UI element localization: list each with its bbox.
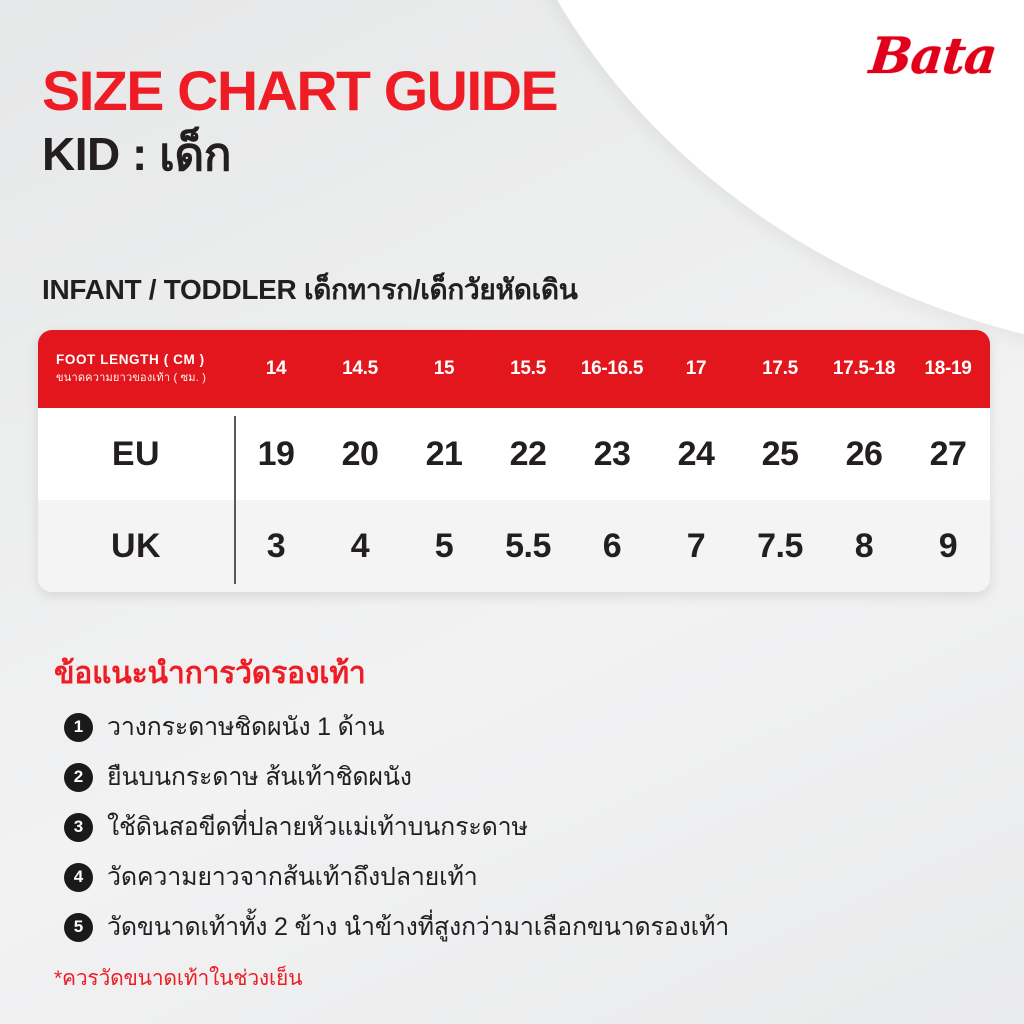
step-number-badge: 5 [64, 913, 93, 942]
size-chart-table: FOOT LENGTH ( CM ) ขนาดความยาวของเท้า ( … [38, 330, 990, 592]
instructions-title: ข้อแนะนำการวัดรองเท้า [54, 650, 366, 697]
table-cell: 7 [654, 527, 738, 566]
foot-length-label-en: FOOT LENGTH ( CM ) [56, 352, 234, 369]
row-label-uk: UK [38, 527, 234, 566]
table-cell: 5.5 [486, 527, 570, 566]
table-cell: 6 [570, 527, 654, 566]
step-text: ยืนบนกระดาษ ส้นเท้าชิดผนัง [107, 757, 412, 797]
column-header: 15.5 [486, 358, 570, 380]
step-text: วัดขนาดเท้าทั้ง 2 ข้าง นำข้างที่สูงกว่าม… [107, 907, 729, 947]
list-item: 3 ใช้ดินสอขีดที่ปลายหัวแม่เท้าบนกระดาษ [64, 802, 729, 852]
step-number-badge: 3 [64, 813, 93, 842]
footnote: *ควรวัดขนาดเท้าในช่วงเย็น [54, 962, 302, 995]
table-header-label: FOOT LENGTH ( CM ) ขนาดความยาวของเท้า ( … [38, 352, 234, 385]
table-cell: 3 [234, 527, 318, 566]
table-cell: 20 [318, 435, 402, 474]
table-cell: 24 [654, 435, 738, 474]
section-title: INFANT / TODDLER เด็กทารก/เด็กวัยหัดเดิน [42, 268, 578, 312]
step-number-badge: 2 [64, 763, 93, 792]
step-text: วัดความยาวจากส้นเท้าถึงปลายเท้า [107, 857, 478, 897]
page-subtitle: KID : เด็ก [42, 129, 547, 180]
table-cell: 8 [822, 527, 906, 566]
table-row-eu: EU 19 20 21 22 23 24 25 26 27 [38, 408, 990, 500]
step-text: ใช้ดินสอขีดที่ปลายหัวแม่เท้าบนกระดาษ [107, 807, 528, 847]
column-header: 14 [234, 358, 318, 380]
column-header: 15 [402, 358, 486, 380]
table-cell: 22 [486, 435, 570, 474]
table-header-row: FOOT LENGTH ( CM ) ขนาดความยาวของเท้า ( … [38, 330, 990, 408]
table-cell: 25 [738, 435, 822, 474]
table-cell: 9 [906, 527, 990, 566]
table-row-uk: UK 3 4 5 5.5 6 7 7.5 8 9 [38, 500, 990, 592]
foot-length-label-th: ขนาดความยาวของเท้า ( ซม. ) [56, 371, 234, 385]
table-cell: 4 [318, 527, 402, 566]
table-cell: 23 [570, 435, 654, 474]
table-cell: 5 [402, 527, 486, 566]
list-item: 5 วัดขนาดเท้าทั้ง 2 ข้าง นำข้างที่สูงกว่… [64, 902, 729, 952]
table-cell: 7.5 [738, 527, 822, 566]
list-item: 4 วัดความยาวจากส้นเท้าถึงปลายเท้า [64, 852, 729, 902]
table-cell: 26 [822, 435, 906, 474]
column-header: 17.5-18 [822, 358, 906, 380]
column-header: 16-16.5 [570, 358, 654, 380]
column-header: 18-19 [906, 358, 990, 380]
table-cell: 19 [234, 435, 318, 474]
column-header: 17.5 [738, 358, 822, 380]
list-item: 1 วางกระดาษชิดผนัง 1 ด้าน [64, 702, 729, 752]
column-header: 17 [654, 358, 738, 380]
page-header: SIZE CHART GUIDE KID : เด็ก [42, 62, 547, 180]
table-vertical-divider [234, 416, 236, 584]
bata-logo: Bata [867, 26, 999, 85]
step-number-badge: 4 [64, 863, 93, 892]
step-text: วางกระดาษชิดผนัง 1 ด้าน [107, 707, 384, 747]
row-label-eu: EU [38, 435, 234, 474]
page-title: SIZE CHART GUIDE [42, 62, 557, 119]
step-number-badge: 1 [64, 713, 93, 742]
column-header: 14.5 [318, 358, 402, 380]
list-item: 2 ยืนบนกระดาษ ส้นเท้าชิดผนัง [64, 752, 729, 802]
table-cell: 21 [402, 435, 486, 474]
instructions-list: 1 วางกระดาษชิดผนัง 1 ด้าน 2 ยืนบนกระดาษ … [64, 702, 729, 952]
table-cell: 27 [906, 435, 990, 474]
